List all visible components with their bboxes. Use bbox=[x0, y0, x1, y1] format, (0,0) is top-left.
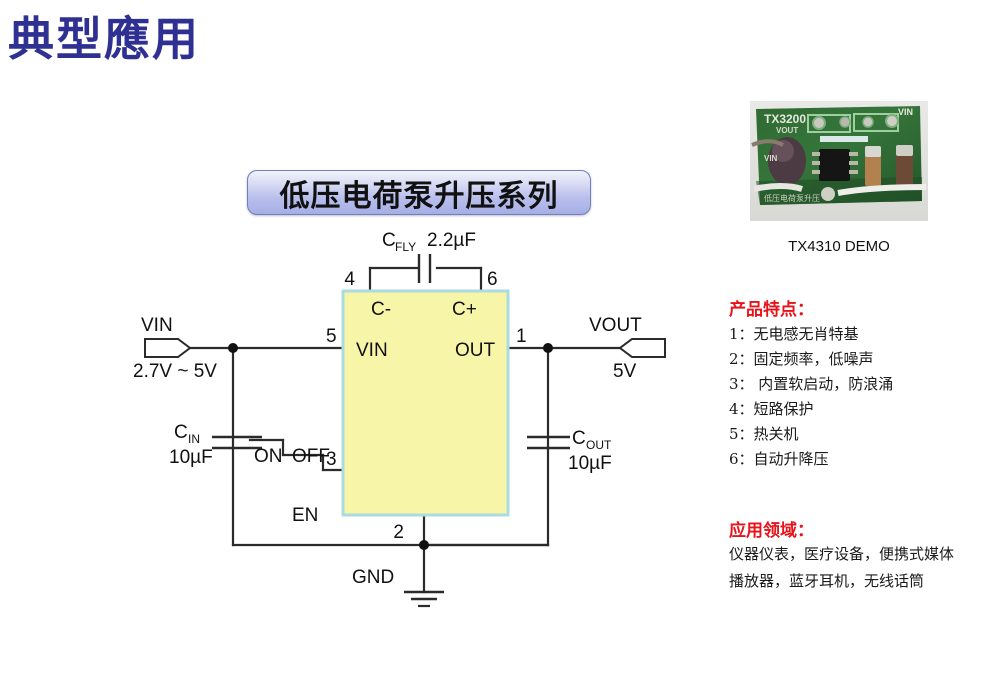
cout-label-value: 10µF bbox=[568, 453, 612, 474]
list-item: 2：固定频率，低噪声 bbox=[729, 347, 979, 372]
junction-dot-vout bbox=[543, 343, 553, 353]
list-item: 6：自动升降压 bbox=[729, 447, 979, 472]
list-item: 3： 内置软启动，防浪涌 bbox=[729, 372, 979, 397]
pin-number-1: 1 bbox=[516, 326, 527, 347]
vout-terminal-label: VOUT bbox=[589, 315, 642, 336]
chip-label-out: OUT bbox=[455, 340, 496, 361]
cin-label-value: 10µF bbox=[169, 447, 213, 468]
applications-heading: 应用领域： bbox=[729, 516, 814, 541]
pin-number-2: 2 bbox=[393, 522, 404, 543]
gnd-label: GND bbox=[352, 567, 394, 588]
switch-on-label: ON bbox=[254, 446, 283, 467]
chip-label-vin: VIN bbox=[356, 340, 388, 361]
list-item: 1：无电感无肖特基 bbox=[729, 322, 979, 347]
cfly-label-value: 2.2µF bbox=[427, 230, 476, 251]
vout-terminal-arrow bbox=[620, 339, 665, 357]
cin-label-name: C bbox=[174, 422, 188, 443]
chip-label-c-minus: C- bbox=[371, 299, 391, 320]
pcb-silkscreen-side: VIN bbox=[764, 154, 778, 163]
cfly-label-name: C bbox=[382, 230, 396, 251]
pcb-silkscreen-vin: VIN bbox=[898, 107, 913, 117]
schematic-diagram: C- C+ VIN OUT 4 6 5 1 3 2 C FLY 2.2µF C … bbox=[0, 0, 700, 694]
vout-value-label: 5V bbox=[613, 361, 637, 382]
pin-number-5: 5 bbox=[326, 326, 337, 347]
features-heading: 产品特点： bbox=[729, 295, 814, 320]
ic-chip-body bbox=[343, 291, 508, 515]
features-list: 1：无电感无肖特基 2：固定频率，低噪声 3： 内置软启动，防浪涌 4：短路保护… bbox=[729, 322, 979, 472]
vin-terminal-arrow bbox=[145, 339, 190, 357]
junction-dot-gnd bbox=[419, 540, 429, 550]
junction-dot-vin bbox=[228, 343, 238, 353]
cout-label-name: C bbox=[572, 428, 586, 449]
pcb-silkscreen-part: TX3200 bbox=[764, 112, 806, 126]
pin-number-6: 6 bbox=[487, 269, 498, 290]
pcb-demo-photo: TX3200 VOUT VIN VIN 低压电荷泵升压 bbox=[750, 101, 928, 221]
vin-range-label: 2.7V ~ 5V bbox=[133, 361, 217, 382]
pcb-silkscreen-vout: VOUT bbox=[776, 126, 798, 135]
pin-number-4: 4 bbox=[344, 269, 355, 290]
applications-text: 仪器仪表，医疗设备，便携式媒体播放器，蓝牙耳机，无线话筒 bbox=[729, 541, 957, 595]
cin-label-sub: IN bbox=[188, 432, 200, 446]
pcb-silkscreen-bottom: 低压电荷泵升压 bbox=[764, 193, 820, 203]
chip-label-c-plus: C+ bbox=[452, 299, 477, 320]
switch-off-label: OFF bbox=[292, 446, 330, 467]
ground-symbol bbox=[404, 592, 444, 606]
pcb-demo-caption: TX4310 DEMO bbox=[750, 238, 928, 255]
vin-terminal-label: VIN bbox=[141, 315, 173, 336]
en-label: EN bbox=[292, 505, 318, 526]
list-item: 4：短路保护 bbox=[729, 397, 979, 422]
list-item: 5：热关机 bbox=[729, 422, 979, 447]
cout-label-sub: OUT bbox=[586, 438, 612, 452]
cfly-label-sub: FLY bbox=[395, 240, 416, 254]
